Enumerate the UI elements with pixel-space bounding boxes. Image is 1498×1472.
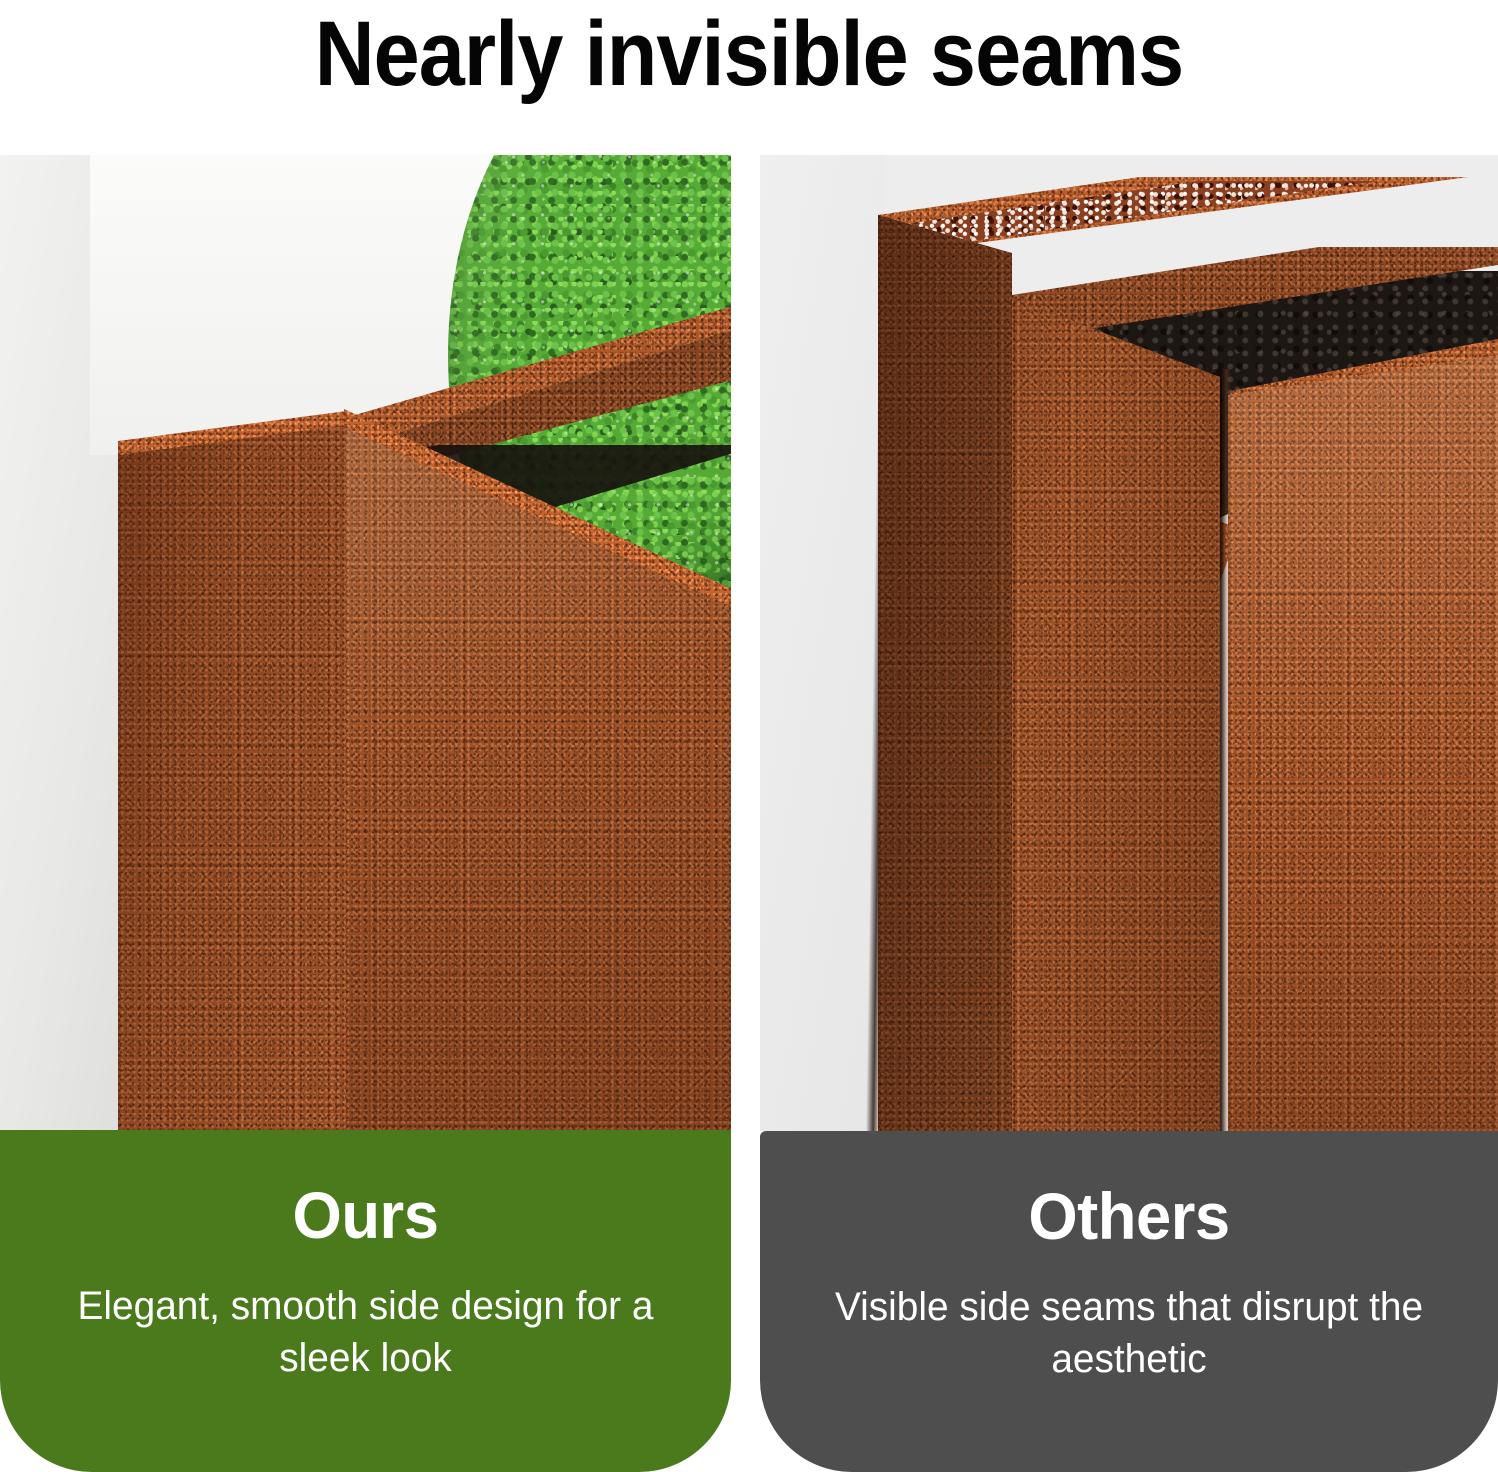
caption-others: Others Visible side seams that disrupt t…: [760, 1131, 1498, 1472]
planter-front-face: [118, 417, 346, 1130]
caption-title-ours: Ours: [15, 1182, 717, 1248]
product-photo-ours: [0, 155, 731, 1130]
product-photo-others: [760, 155, 1498, 1131]
caption-ours: Ours Elegant, smooth side design for a s…: [0, 1130, 731, 1472]
caption-body-others: Visible side seams that disrupt the aest…: [771, 1281, 1487, 1385]
caption-body-ours: Elegant, smooth side design for a sleek …: [11, 1280, 720, 1384]
planter-right-face: [1228, 355, 1498, 1131]
comparison-panel-others: [760, 155, 1498, 1131]
background-wall: [760, 155, 884, 1131]
page-title: Nearly invisible seams: [75, 0, 1423, 114]
planter-left-flange: [878, 215, 1012, 1131]
caption-title-others: Others: [775, 1183, 1483, 1249]
comparison-panel-ours: [0, 155, 731, 1130]
